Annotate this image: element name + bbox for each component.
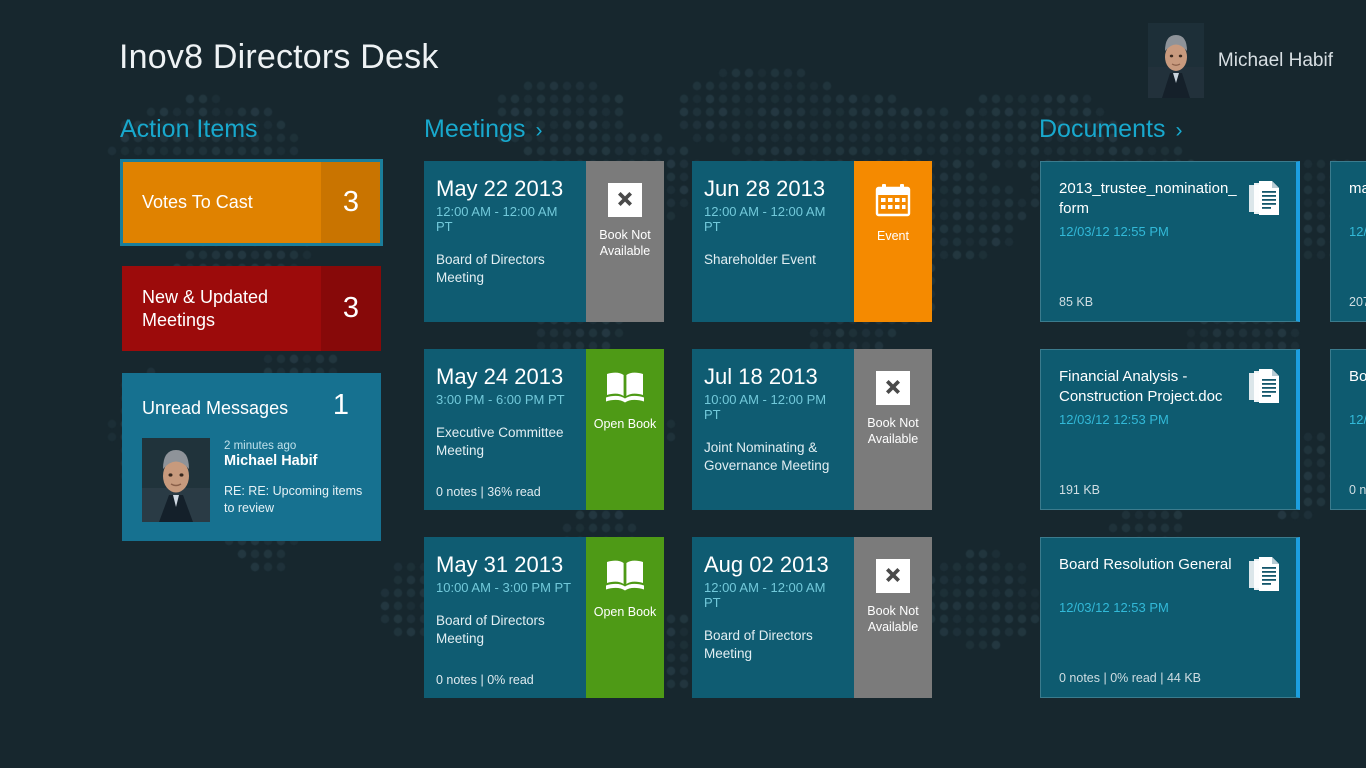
tile-count: 3 [321,161,381,244]
document-meta: 207... [1349,295,1366,309]
meeting-title: Board of Directors Meeting [436,612,572,648]
meeting-action-book[interactable]: Open Book [586,349,664,510]
meeting-date: May 24 2013 [436,365,572,389]
meeting-time: 12:00 AM - 12:00 AM PT [704,580,840,610]
section-title: Meetings [424,115,525,144]
document-date: 12/03/12 12:55 PM [1059,224,1280,239]
document-date: 12/03/12 12:53 PM [1059,412,1280,427]
meeting-action-caption: Open Book [590,604,661,620]
document-tile[interactable]: Bo... Ge...12/...0 n... [1330,349,1366,510]
meeting-action-caption: Book Not Available [854,415,932,447]
document-date: 12/... [1349,412,1366,427]
user-photo-icon [142,438,210,522]
documents-column-2: ma... 20...12/...207...Bo... Ge...12/...… [1330,161,1366,537]
chevron-right-icon: › [1175,120,1182,141]
document-name: ma... 20... [1349,179,1366,199]
meeting-date: Jun 28 2013 [704,177,840,201]
meeting-action-book[interactable]: Open Book [586,537,664,698]
meeting-action-unavailable[interactable]: Book Not Available [854,349,932,510]
meeting-tile[interactable]: Jun 28 201312:00 AM - 12:00 AM PTShareho… [692,161,932,322]
meeting-notes-status: 0 notes | 36% read [436,485,541,499]
meeting-time: 10:00 AM - 3:00 PM PT [436,580,572,595]
section-title: Action Items [120,115,258,144]
message-timestamp: 2 minutes ago [224,440,363,452]
meeting-date: Jul 18 2013 [704,365,840,389]
document-name: 2013_trustee_nomination_form [1059,179,1240,219]
document-icon-wrap [1248,367,1280,408]
meeting-notes-status: 0 notes | 0% read [436,673,534,687]
document-icon [1248,557,1280,591]
meeting-tile[interactable]: Aug 02 201312:00 AM - 12:00 AM PTBoard o… [692,537,932,698]
avatar [1148,23,1204,98]
meeting-action-unavailable[interactable]: Book Not Available [854,537,932,698]
document-meta: 85 KB [1059,295,1093,309]
meeting-action-event[interactable]: Event [854,161,932,322]
section-header-documents[interactable]: Documents › [1039,115,1182,144]
chevron-right-icon: › [535,120,542,141]
open-book-icon [605,371,645,403]
documents-column-1: 2013_trustee_nomination_form12/03/12 12:… [1040,161,1300,725]
directors-desk-app: Inov8 Directors Desk Michael Habif Actio… [0,0,1366,768]
meetings-column-1: May 22 201312:00 AM - 12:00 AM PTBoard o… [424,161,664,725]
document-icon [1248,369,1280,403]
tile-new-updated-meetings[interactable]: New & Updated Meetings 3 [122,266,381,351]
meeting-date: May 22 2013 [436,177,572,201]
meeting-action-caption: Event [873,228,913,244]
meeting-tile[interactable]: May 31 201310:00 AM - 3:00 PM PTBoard of… [424,537,664,698]
meeting-info[interactable]: May 22 201312:00 AM - 12:00 AM PTBoard o… [424,161,586,322]
close-x-icon [876,371,910,405]
tile-label: Votes To Cast [122,191,321,214]
section-header-action-items[interactable]: Action Items [120,115,268,144]
document-meta: 0 n... [1349,483,1366,497]
tile-votes-to-cast[interactable]: Votes To Cast 3 [122,161,381,244]
document-date: 12/03/12 12:53 PM [1059,600,1280,615]
meeting-time: 12:00 AM - 12:00 AM PT [704,204,840,234]
meeting-time: 3:00 PM - 6:00 PM PT [436,392,572,407]
meeting-info[interactable]: Aug 02 201312:00 AM - 12:00 AM PTBoard o… [692,537,854,698]
close-x-icon [608,183,642,217]
document-icon [1248,181,1280,215]
document-name: Bo... Ge... [1349,367,1366,387]
tile-label: New & Updated Meetings [122,286,321,331]
document-date: 12/... [1349,224,1366,239]
meeting-title: Board of Directors Meeting [704,627,840,663]
user-chip[interactable]: Michael Habif [1148,23,1333,98]
tile-count: 3 [321,266,381,351]
document-name: Board Resolution General [1059,555,1240,575]
section-header-meetings[interactable]: Meetings › [424,115,542,144]
meeting-tile[interactable]: May 22 201312:00 AM - 12:00 AM PTBoard o… [424,161,664,322]
meeting-time: 12:00 AM - 12:00 AM PT [436,204,572,234]
tile-label: Unread Messages [142,398,333,419]
meeting-date: May 31 2013 [436,553,572,577]
page-title: Inov8 Directors Desk [119,38,439,77]
document-name: Financial Analysis - Construction Projec… [1059,367,1240,407]
user-name: Michael Habif [1218,50,1333,72]
meeting-action-unavailable[interactable]: Book Not Available [586,161,664,322]
close-x-icon [876,559,910,593]
meeting-action-caption: Open Book [590,416,661,432]
meeting-title: Shareholder Event [704,251,840,269]
meeting-title: Joint Nominating & Governance Meeting [704,439,840,475]
tile-unread-messages[interactable]: Unread Messages 1 [122,373,381,541]
tile-count: 1 [333,389,363,422]
meeting-date: Aug 02 2013 [704,553,840,577]
message-subject: RE: RE: Upcoming items to review [224,483,363,517]
meeting-action-caption: Book Not Available [586,227,664,259]
section-title: Documents [1039,115,1165,144]
meeting-info[interactable]: Jun 28 201312:00 AM - 12:00 AM PTShareho… [692,161,854,322]
user-photo-icon [1148,23,1204,98]
document-meta: 191 KB [1059,483,1100,497]
meeting-info[interactable]: Jul 18 201310:00 AM - 12:00 PM PTJoint N… [692,349,854,510]
meeting-title: Executive Committee Meeting [436,424,572,460]
meeting-title: Board of Directors Meeting [436,251,572,287]
meeting-info[interactable]: May 31 201310:00 AM - 3:00 PM PTBoard of… [424,537,586,698]
action-items-column: Votes To Cast 3 New & Updated Meetings 3… [122,161,381,541]
document-tile[interactable]: 2013_trustee_nomination_form12/03/12 12:… [1040,161,1300,322]
meeting-time: 10:00 AM - 12:00 PM PT [704,392,840,422]
document-tile[interactable]: Board Resolution General12/03/12 12:53 P… [1040,537,1300,698]
document-tile[interactable]: Financial Analysis - Construction Projec… [1040,349,1300,510]
calendar-icon [875,183,911,217]
message-sender: Michael Habif [224,453,363,469]
document-icon-wrap [1248,179,1280,220]
meeting-action-caption: Book Not Available [854,603,932,635]
message-sender-avatar [142,438,210,522]
meetings-column-2: Jun 28 201312:00 AM - 12:00 AM PTShareho… [692,161,932,725]
meeting-info[interactable]: May 24 20133:00 PM - 6:00 PM PTExecutive… [424,349,586,510]
open-book-icon [605,559,645,591]
meeting-tile[interactable]: May 24 20133:00 PM - 6:00 PM PTExecutive… [424,349,664,510]
document-tile[interactable]: ma... 20...12/...207... [1330,161,1366,322]
meeting-tile[interactable]: Jul 18 201310:00 AM - 12:00 PM PTJoint N… [692,349,932,510]
document-icon-wrap [1248,555,1280,596]
document-meta: 0 notes | 0% read | 44 KB [1059,671,1201,685]
